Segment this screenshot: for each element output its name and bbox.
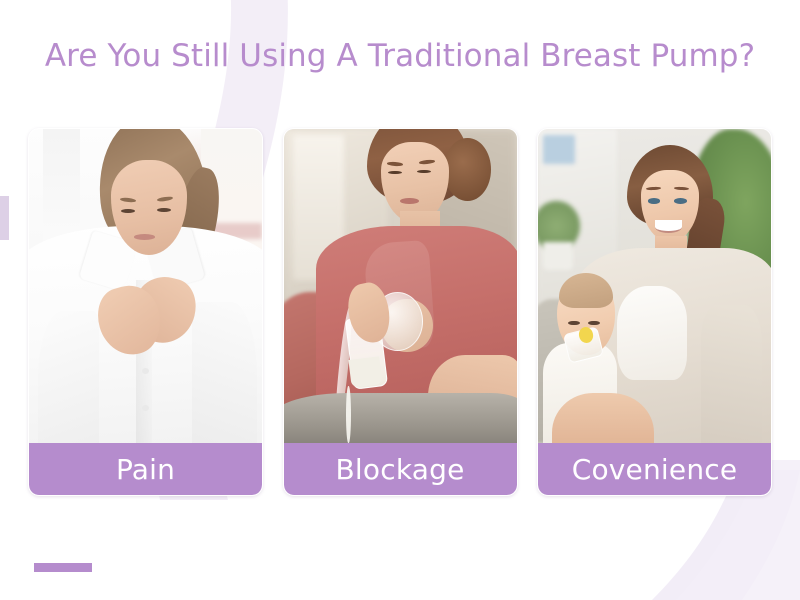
- feature-card-list: Pain: [28, 128, 772, 496]
- feature-card-blockage[interactable]: Blockage: [283, 128, 518, 496]
- feature-card-convenience[interactable]: Covenience: [537, 128, 772, 496]
- bottom-left-accent-dash: [34, 563, 92, 572]
- page-title: Are You Still Using A Traditional Breast…: [0, 36, 800, 76]
- card-caption-blockage: Blockage: [284, 443, 517, 495]
- card-caption-pain: Pain: [29, 443, 262, 495]
- card-photo-pain: [29, 129, 262, 443]
- slide-canvas: Are You Still Using A Traditional Breast…: [0, 0, 800, 600]
- feature-card-pain[interactable]: Pain: [28, 128, 263, 496]
- card-caption-convenience: Covenience: [538, 443, 771, 495]
- left-edge-accent-tab: [0, 196, 9, 240]
- card-photo-convenience: [538, 129, 771, 443]
- card-photo-blockage: [284, 129, 517, 443]
